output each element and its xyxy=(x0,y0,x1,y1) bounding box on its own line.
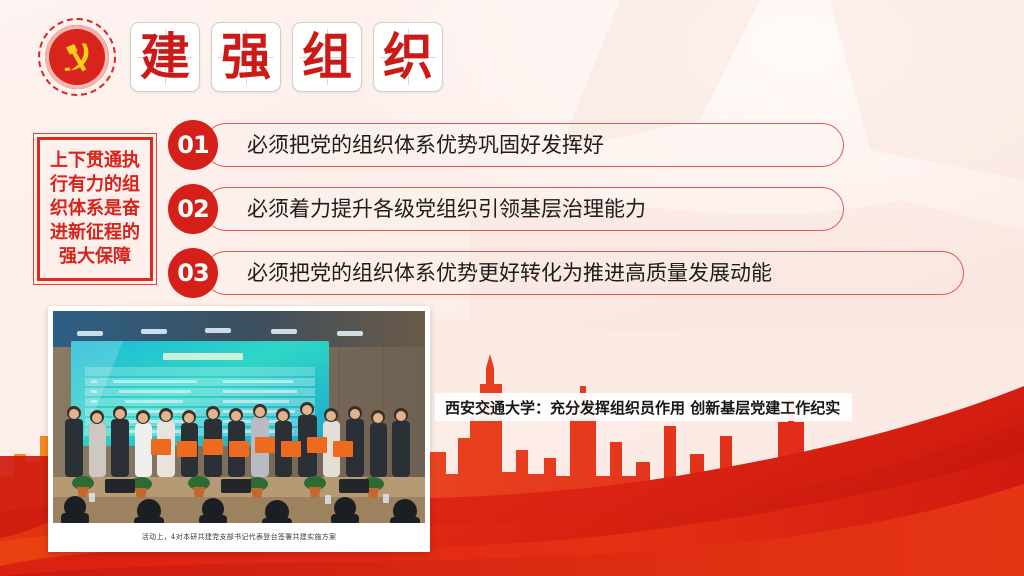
title-char-box-1: 建 xyxy=(130,22,200,92)
key-points-list: 必须把党的组织体系优势巩固好发挥好 01 必须着力提升各级党组织引领基层治理能力… xyxy=(168,120,1008,312)
title-char-4: 织 xyxy=(383,32,433,82)
photo-caption: 活动上，4对本研共建党支部书记代表登台签署共建实施方案 xyxy=(53,523,425,551)
list-item-01-badge: 01 xyxy=(168,120,218,170)
title-char-box-4: 织 xyxy=(373,22,443,92)
list-item-01-label: 必须把党的组织体系优势巩固好发挥好 xyxy=(247,135,604,156)
stage-people xyxy=(65,402,410,477)
title-char-1: 建 xyxy=(140,32,190,82)
list-item-02-label: 必须着力提升各级党组织引领基层治理能力 xyxy=(247,199,646,220)
title-char-box-2: 强 xyxy=(211,22,281,92)
list-item-01[interactable]: 必须把党的组织体系优势巩固好发挥好 01 xyxy=(168,120,1008,170)
list-item-02-badge: 02 xyxy=(168,184,218,234)
title-char-3: 组 xyxy=(302,32,352,82)
list-item-03-pill[interactable]: 必须把党的组织体系优势更好转化为推进高质量发展动能 xyxy=(204,251,964,295)
event-photo-illustration xyxy=(53,311,425,523)
list-item-01-pill[interactable]: 必须把党的组织体系优势巩固好发挥好 xyxy=(204,123,844,167)
callout-inner-border: 上下贯通执行有力的组织体系是奋进新征程的强大保障 xyxy=(37,137,153,281)
news-caption-band: 西安交通大学：充分发挥组织员作用 创新基层党建工作纪实 xyxy=(435,393,852,421)
party-emblem xyxy=(38,18,116,96)
news-caption-text: 西安交通大学：充分发挥组织员作用 创新基层党建工作纪实 xyxy=(445,397,840,418)
list-item-03-label: 必须把党的组织体系优势更好转化为推进高质量发展动能 xyxy=(247,263,772,284)
slide-header: 建 强 组 织 xyxy=(38,18,443,96)
title-char-2: 强 xyxy=(221,32,271,82)
callout-text: 上下贯通执行有力的组织体系是奋进新征程的强大保障 xyxy=(45,149,145,269)
list-item-02-pill[interactable]: 必须着力提升各级党组织引领基层治理能力 xyxy=(204,187,844,231)
list-item-03-badge: 03 xyxy=(168,248,218,298)
list-item-02[interactable]: 必须着力提升各级党组织引领基层治理能力 02 xyxy=(168,184,1008,234)
list-item-03[interactable]: 必须把党的组织体系优势更好转化为推进高质量发展动能 03 xyxy=(168,248,1008,298)
callout-box: 上下贯通执行有力的组织体系是奋进新征程的强大保障 xyxy=(33,133,157,285)
title-char-box-3: 组 xyxy=(292,22,362,92)
title-character-boxes: 建 强 组 织 xyxy=(130,22,443,92)
emblem-dashed-ring xyxy=(38,18,116,96)
slide-root: 建 强 组 织 上下贯通执行有力的组织体系是奋进新征程的强大保障 必须把党的组织… xyxy=(0,0,1024,576)
event-photo xyxy=(53,311,425,523)
photo-card: 活动上，4对本研共建党支部书记代表登台签署共建实施方案 xyxy=(48,306,430,552)
